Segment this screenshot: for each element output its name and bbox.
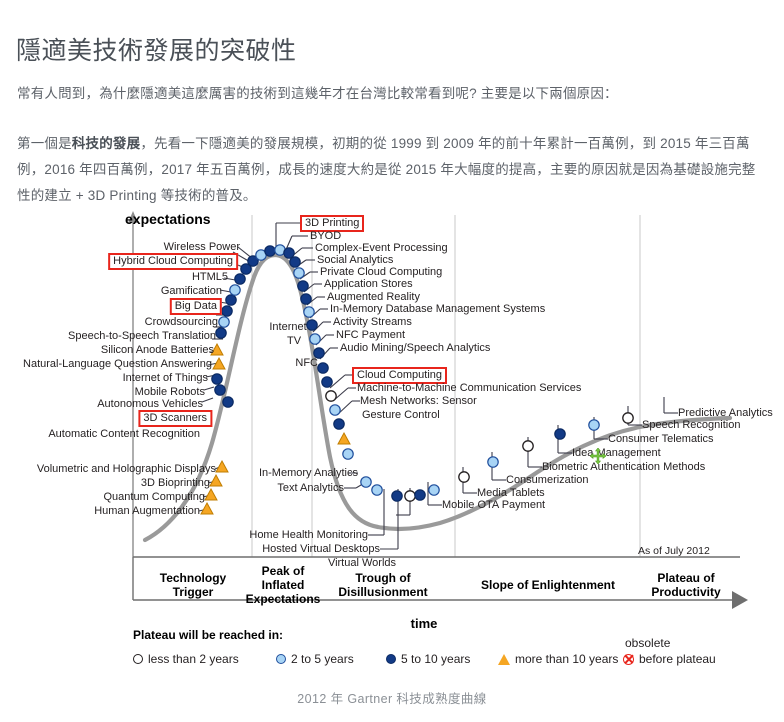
legend-label: more than 10 years: [515, 652, 618, 666]
point-label-crowdsourcing: Crowdsourcing: [145, 316, 218, 328]
y-axis-title: expectations: [125, 211, 211, 227]
point-label-private-cloud-computing: Private Cloud Computing: [320, 266, 442, 278]
paragraph-2-prefix: 第一個是: [17, 136, 72, 151]
point-label-media-tablets: Media Tablets: [477, 487, 545, 499]
legend-label: less than 2 years: [148, 652, 239, 666]
point-label-tv: TV: [287, 335, 301, 347]
point-label-quantum-computing: Quantum Computing: [104, 491, 206, 503]
point-label-biometric-authentication-methods: Biometric Authentication Methods: [542, 461, 705, 473]
point-label-silicon-anode-batteries: Silicon Anode Batteries: [101, 344, 214, 356]
circle-dark-blue-icon: [386, 654, 396, 664]
point-label-internet: Internet: [269, 321, 306, 333]
point-label-3d-printing: 3D Printing: [300, 217, 364, 229]
point-label-predictive-analytics: Predictive Analytics: [678, 407, 773, 419]
point-label-audio-mining-speech-analytics: Audio Mining/Speech Analytics: [340, 342, 490, 354]
point-label-autonomous-vehicles: Autonomous Vehicles: [97, 398, 203, 410]
legend-item-2-to-5-years[interactable]: 2 to 5 years: [276, 652, 354, 666]
chart-legend: Plateau will be reached in: obsolete les…: [133, 628, 753, 676]
legend-item-5-to-10-years[interactable]: 5 to 10 years: [386, 652, 470, 666]
point-label-nfc: NFC: [295, 357, 318, 369]
circle-light-blue-icon: [276, 654, 286, 664]
point-label-speech-to-speech-translation: Speech-to-Speech Translation: [68, 330, 216, 342]
point-label-consumer-telematics: Consumer Telematics: [608, 433, 714, 445]
point-label-gesture-control: Gesture Control: [362, 409, 440, 421]
point-label-text-analytics: Text Analytics: [277, 482, 344, 494]
point-label-speech-recognition: Speech Recognition: [642, 419, 740, 431]
point-label-mobile-ota-payment: Mobile OTA Payment: [442, 499, 545, 511]
point-label-3d-scanners: 3D Scanners: [138, 412, 212, 424]
legend-item-obsolete-before-plateau[interactable]: before plateau: [623, 652, 716, 666]
circle-x-red-icon: [623, 654, 634, 665]
point-label-application-stores: Application Stores: [324, 278, 413, 290]
point-label-in-memory-analytics: In-Memory Analytics: [259, 467, 358, 479]
point-label-gamification: Gamification: [161, 285, 222, 297]
phase-label-slope-of-enlightenment: Slope of Enlightenment: [481, 578, 615, 592]
phase-label-peak-of-inflated-expectations: Peak of Inflated Expectations: [246, 564, 321, 606]
point-label-hybrid-cloud-computing: Hybrid Cloud Computing: [108, 255, 238, 267]
point-label-idea-management: Idea Management: [572, 447, 661, 459]
point-label-wireless-power: Wireless Power: [164, 241, 240, 253]
point-label-hosted-virtual-desktops: Hosted Virtual Desktops: [262, 543, 380, 555]
point-label-3d-bioprinting: 3D Bioprinting: [141, 477, 210, 489]
point-label-natural-language-question-answering: Natural-Language Question Answering: [23, 358, 212, 370]
point-label-human-augmentation: Human Augmentation: [94, 505, 200, 517]
article-paragraph-1: 常有人問到，為什麼隱適美這麼厲害的技術到這幾年才在台灣比較常看到呢? 主要是以下…: [17, 81, 769, 107]
point-label-consumerization: Consumerization: [506, 474, 589, 486]
point-label-virtual-worlds: Virtual Worlds: [328, 557, 396, 569]
point-label-nfc-payment: NFC Payment: [336, 329, 405, 341]
triangle-orange-icon: [498, 654, 510, 665]
point-label-activity-streams: Activity Streams: [333, 316, 412, 328]
paragraph-2-emphasis: 科技的發展: [72, 136, 141, 151]
circle-white-icon: [133, 654, 143, 664]
page-root: 隱適美技術發展的突破性 常有人問到，為什麼隱適美這麼厲害的技術到這幾年才在台灣比…: [0, 0, 784, 722]
article-paragraph-2: 第一個是科技的發展，先看一下隱適美的發展規模，初期的從 1999 到 2009 …: [17, 131, 769, 209]
phase-label-trough-of-disillusionment: Trough of Disillusionment: [338, 571, 427, 599]
legend-title: Plateau will be reached in:: [133, 628, 283, 642]
hype-cycle-chart: expectations Wireless Power Hybrid Cloud…: [0, 205, 784, 685]
point-label-mobile-robots: Mobile Robots: [135, 386, 205, 398]
point-label-big-data: Big Data: [170, 300, 222, 312]
phase-label-technology-trigger: Technology Trigger: [160, 571, 226, 599]
phase-label-plateau-of-productivity: Plateau of Productivity: [651, 571, 720, 599]
point-label-cloud-computing: Cloud Computing: [352, 369, 447, 381]
point-label-home-health-monitoring: Home Health Monitoring: [249, 529, 368, 541]
point-label-internet-of-things: Internet of Things: [123, 372, 208, 384]
point-label-social-analytics: Social Analytics: [317, 254, 393, 266]
page-title: 隱適美技術發展的突破性: [16, 31, 297, 67]
point-label-mesh-networks-sensor: Mesh Networks: Sensor: [360, 395, 477, 407]
point-label-html5: HTML5: [192, 271, 228, 283]
point-label-machine-to-machine-communication-services: Machine-to-Machine Communication Service…: [357, 382, 581, 394]
move-cursor-icon: [590, 448, 606, 464]
point-label-volumetric-and-holographic-displays: Volumetric and Holographic Displays: [37, 463, 216, 475]
point-label-automatic-content-recognition: Automatic Content Recognition: [48, 428, 200, 440]
legend-item-less-than-2-years[interactable]: less than 2 years: [133, 652, 239, 666]
point-label-in-memory-database-management-systems: In-Memory Database Management Systems: [330, 303, 545, 315]
legend-label: before plateau: [639, 652, 716, 666]
legend-item-more-than-10-years[interactable]: more than 10 years: [498, 652, 618, 666]
as-of-date: As of July 2012: [638, 545, 710, 557]
point-label-byod: BYOD: [310, 230, 341, 242]
legend-obsolete-note: obsolete: [625, 636, 670, 650]
legend-label: 5 to 10 years: [401, 652, 470, 666]
figure-caption: 2012 年 Gartner 科技成熟度曲線: [0, 688, 784, 707]
legend-label: 2 to 5 years: [291, 652, 354, 666]
point-label-complex-event-processing: Complex-Event Processing: [315, 242, 448, 254]
point-label-augmented-reality: Augmented Reality: [327, 291, 420, 303]
